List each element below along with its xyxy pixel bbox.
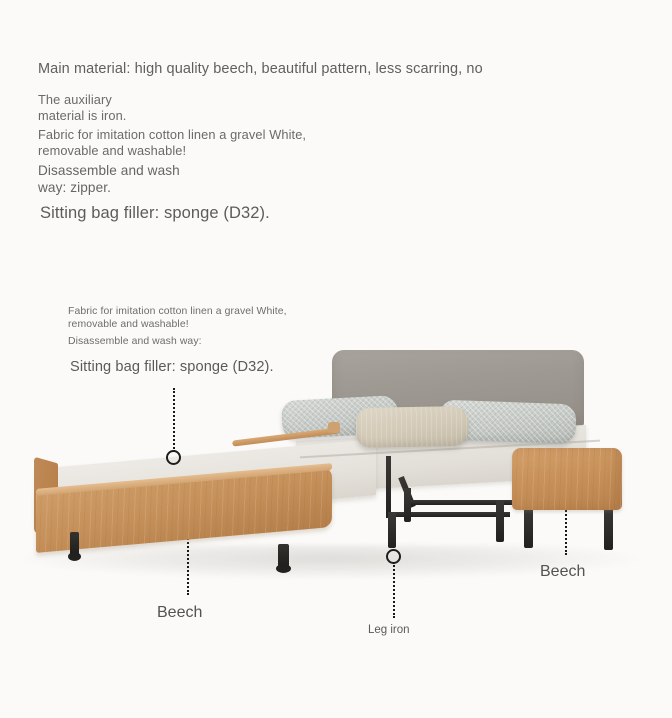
callout-ring-filler <box>166 450 181 465</box>
spec-main-material: Main material: high quality beech, beaut… <box>38 61 483 79</box>
iron-leg <box>604 506 613 550</box>
pillow-center <box>356 406 469 448</box>
callout-label-beech-right: Beech <box>540 563 585 581</box>
iron-leg <box>404 488 411 522</box>
leader-line-leg-iron <box>393 562 395 618</box>
spec-filler: Sitting bag filler: sponge (D32). <box>40 203 270 223</box>
wood-grain-texture <box>512 448 622 510</box>
callout-ring-leg-iron <box>386 549 401 564</box>
iron-leg <box>388 512 396 548</box>
pillow-weave-texture <box>356 406 469 448</box>
caster-wheel <box>70 532 79 558</box>
callout-label-leg-iron: Leg iron <box>368 624 410 636</box>
spec-fabric: Fabric for imitation cotton linen a grav… <box>38 127 306 158</box>
beech-arm-right <box>512 448 622 510</box>
iron-leg <box>524 506 533 548</box>
spec-wash-way: Disassemble and wash way: zipper. <box>38 163 180 196</box>
product-infographic: Main material: high quality beech, beaut… <box>0 0 672 718</box>
spec-auxiliary-material: The auxiliary material is iron. <box>38 92 126 123</box>
iron-strut <box>386 456 391 518</box>
iron-leg <box>496 500 504 542</box>
support-arm-knob <box>328 422 340 433</box>
leader-line-filler <box>173 388 175 452</box>
callout-label-beech-left: Beech <box>157 604 202 622</box>
leader-line-beech-right <box>565 503 567 555</box>
caster-wheel <box>278 544 289 570</box>
sofa-bed-illustration <box>0 330 672 630</box>
leader-line-beech-left <box>187 535 189 595</box>
annotation-fabric: Fabric for imitation cotton linen a grav… <box>68 305 287 331</box>
